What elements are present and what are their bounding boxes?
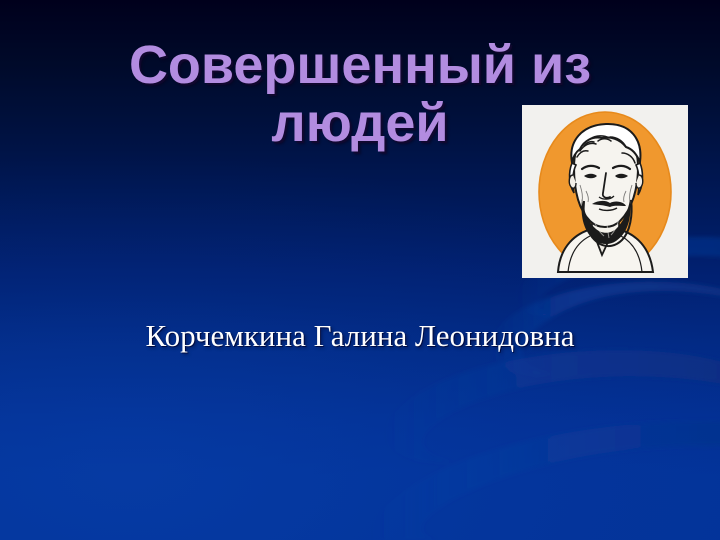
portrait-image xyxy=(522,105,688,278)
presentation-slide: Совершенный из людей xyxy=(0,0,720,540)
slide-subtitle: Корчемкина Галина Леонидовна xyxy=(60,314,660,358)
author-name-text: Корчемкина Галина Леонидовна xyxy=(60,314,660,358)
philosopher-portrait-icon xyxy=(522,105,688,278)
